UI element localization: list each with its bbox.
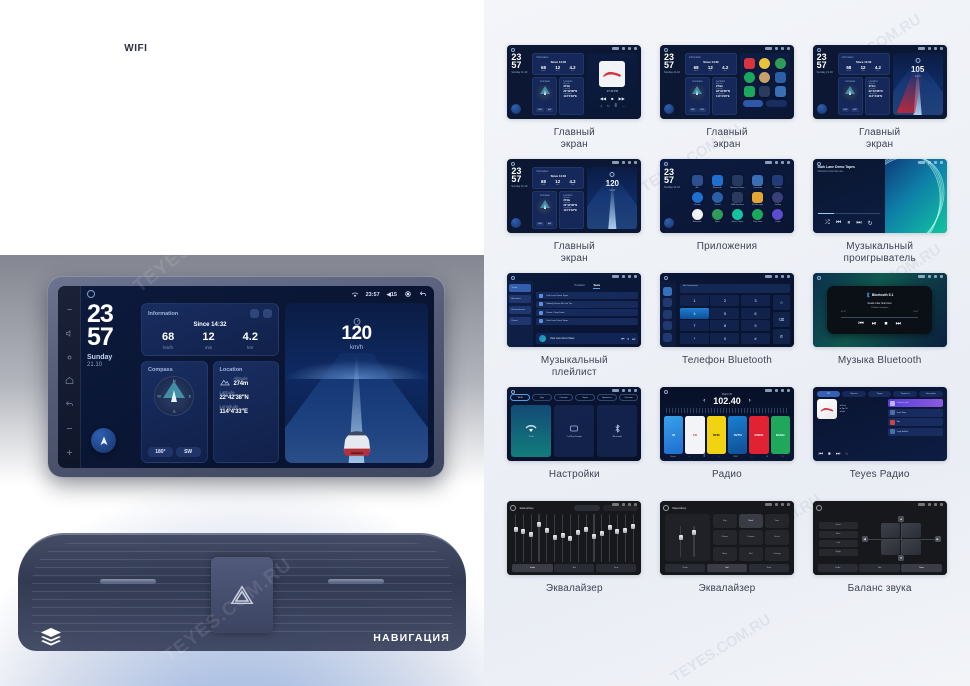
next-icon[interactable]: ⏭ xyxy=(632,337,635,341)
album-art xyxy=(599,61,625,87)
key[interactable]: * xyxy=(680,333,709,344)
band-slider[interactable] xyxy=(606,514,612,562)
thumbnail-teyes-radio[interactable]: ТВ Музыка Радио Подкасты Настройки xyxy=(813,387,947,461)
app-item[interactable]: Maps xyxy=(708,209,726,223)
settings-card[interactable]: CarPlay Dongle xyxy=(554,405,594,457)
app-grid[interactable]: AVI Bluetooth Bluetooth Music Calculator… xyxy=(685,168,790,229)
settings-tabs[interactable]: Wi-Fi Звук Система Экран Громкость Систе… xyxy=(507,394,641,401)
list-icon[interactable]: ≣ xyxy=(615,104,618,108)
next-icon[interactable]: ⏭ xyxy=(836,451,841,457)
preset[interactable]: ECHO xyxy=(771,416,790,454)
app-label: Music Player xyxy=(732,221,743,223)
compass-card[interactable]: Compass N S W E xyxy=(141,361,208,463)
thumbnail-caption: Главный экран xyxy=(859,127,900,151)
list-icon[interactable]: ≣ xyxy=(703,456,705,458)
gallery-item[interactable]: 23 57 Sunday 21.10 Information Since 14:… xyxy=(655,45,800,151)
tab[interactable]: Система xyxy=(554,394,574,401)
gallery-item[interactable]: 23 57 Sunday 21.10 AVI Bluetooth Bluetoo… xyxy=(655,159,800,265)
preset-pill[interactable] xyxy=(574,505,600,511)
power-icon[interactable]: ⏻ xyxy=(782,456,784,458)
footer-button[interactable]: Bal xyxy=(554,564,594,572)
location-title: Location xyxy=(220,367,273,373)
clock-minutes: 57 xyxy=(664,176,682,184)
tab[interactable]: Радио xyxy=(868,391,892,397)
settings-card[interactable]: Wi-Fi xyxy=(511,405,551,457)
gallery-item[interactable]: Эквалайзер xyxy=(502,501,647,607)
star-icon[interactable]: ☆ xyxy=(773,295,790,310)
footer-button[interactable]: Bal xyxy=(859,564,899,572)
gallery-item[interactable]: 23 57 Sunday 21.10 Information Since 14:… xyxy=(502,159,647,265)
compass-heading: 180° xyxy=(689,108,697,112)
app-item[interactable]: DAB Equalizer xyxy=(728,192,746,206)
tab[interactable]: Музыка xyxy=(842,391,866,397)
thumbnail-playlist[interactable]: Треки Альбомы Исполнители Папки Плейлист… xyxy=(507,273,641,347)
seek-bar[interactable] xyxy=(841,317,918,318)
now-playing-bar[interactable]: Dark Lane Demo Tapes ⏮ ⏸ ⏭ xyxy=(536,333,638,344)
pause-icon[interactable]: ⏸ xyxy=(847,220,850,227)
balance-pad[interactable]: ▲ ▼ ◀ ▶ xyxy=(862,516,941,561)
app-item[interactable]: FileManager xyxy=(749,192,767,206)
band-slider[interactable] xyxy=(552,514,558,562)
thumbnail-bt-music[interactable]: Bluetooth 5.1 Feels Like Summer Childish… xyxy=(813,273,947,347)
tab[interactable]: Подкасты xyxy=(893,391,917,397)
player-controls[interactable]: ⤮ ⏮ ⏸ ⏭ ↻ xyxy=(818,220,880,227)
bluetooth-icon xyxy=(866,292,870,299)
track-name: Dark Lane Demo Tapes xyxy=(546,320,568,322)
band-slider[interactable] xyxy=(630,514,636,562)
key[interactable]: 0 xyxy=(710,333,739,344)
app-label: Play Store xyxy=(753,221,762,223)
back-icon[interactable] xyxy=(816,505,822,511)
thumbnail-home-apps[interactable]: 23 57 Sunday 21.10 Information Since 14:… xyxy=(660,45,794,119)
shuffle-icon[interactable]: ⤮ xyxy=(825,220,830,227)
fader[interactable] xyxy=(693,526,694,557)
equalizer-icon[interactable]: ⎍ xyxy=(719,456,720,458)
bt-music-screen: Bluetooth 5.1 Feels Like Summer Childish… xyxy=(813,273,947,347)
navigation-arrow-icon[interactable] xyxy=(511,218,521,228)
location-card[interactable]: Location Altitude 274m xyxy=(213,361,280,463)
prev-icon[interactable]: ◀◀ xyxy=(600,96,606,101)
key[interactable]: 5 xyxy=(710,308,739,319)
footer-button[interactable]: Fade xyxy=(512,564,552,572)
tab[interactable]: Wi-Fi xyxy=(510,394,530,401)
thumbnail-bt-phone[interactable]: Not Connected 1 2 3 4 5 6 xyxy=(660,273,794,347)
stop-icon[interactable]: ■ xyxy=(611,96,613,101)
gallery-item[interactable]: 23 57 Sunday 21.10 Information Since 14:… xyxy=(807,45,952,151)
back-icon[interactable] xyxy=(663,505,669,511)
track-row[interactable]: Dark Lane Demo Tapes xyxy=(536,318,638,325)
footer-button[interactable]: Tone xyxy=(901,564,941,572)
settings-cards[interactable]: Wi-Fi CarPlay Dongle Bluetooth xyxy=(511,405,637,457)
previous-icon[interactable]: ⏮ xyxy=(858,321,863,328)
footer-button[interactable]: Tone xyxy=(596,564,636,572)
gallery-item[interactable]: Эквалайзер Pop Rock Jazz xyxy=(655,501,800,607)
next-icon[interactable]: ⏭ xyxy=(896,321,901,328)
stat-unit: km xyxy=(875,70,881,72)
key[interactable]: 2 xyxy=(710,295,739,306)
thumbnail-settings[interactable]: Wi-Fi Звук Система Экран Громкость Систе… xyxy=(507,387,641,461)
band-slider[interactable] xyxy=(575,514,581,562)
back-icon[interactable] xyxy=(664,218,674,228)
status-bar xyxy=(612,389,637,392)
shuffle-icon[interactable]: ⤮ xyxy=(600,104,602,108)
app-item[interactable]: Bluetooth xyxy=(708,175,726,189)
dial-pad[interactable]: 1 2 3 4 5 6 7 8 9 * xyxy=(680,295,770,344)
previous-icon[interactable]: ⏮ xyxy=(621,337,624,341)
tab[interactable]: Звук xyxy=(532,394,552,401)
compass-card: Compass 180°SW xyxy=(838,77,863,115)
repeat-icon[interactable]: ↻ xyxy=(868,220,873,227)
track-list[interactable]: Dark Lane Demo Tapes Nobody Knows Me Lik… xyxy=(536,292,638,331)
balance-screen: Front Rear Left Right xyxy=(813,501,947,575)
stop-icon[interactable]: ⏹ xyxy=(885,321,888,328)
app-item[interactable]: Chrome xyxy=(688,192,706,206)
app-item[interactable]: Calculator xyxy=(749,175,767,189)
status-bar xyxy=(918,275,943,278)
band-slider[interactable] xyxy=(599,514,605,562)
location-card: Location Altitude 274m Latitude 22°42'38… xyxy=(559,191,584,229)
side-button-strip[interactable] xyxy=(58,286,81,468)
caption-line-1: Главный xyxy=(554,241,595,253)
key[interactable]: 1 xyxy=(680,295,709,306)
compass-title: Compass xyxy=(540,194,550,197)
star-icon[interactable]: ☆ xyxy=(751,456,753,458)
information-title: Information xyxy=(148,311,178,317)
band-slider[interactable] xyxy=(583,514,589,562)
speed-road-widget[interactable]: 120 km/h xyxy=(285,303,428,463)
sidebar-item[interactable]: Папки xyxy=(509,317,531,325)
navigation-arrow-icon[interactable] xyxy=(91,428,116,453)
band-slider[interactable] xyxy=(528,514,534,562)
playlist-sidebar[interactable]: Треки Альбомы Исполнители Папки xyxy=(507,281,533,347)
station-name: Long Ballads xyxy=(897,431,909,433)
app-item[interactable]: Play Store xyxy=(749,209,767,223)
home-indicator-icon xyxy=(664,276,668,280)
clock-date: Sunday 21.10 xyxy=(664,186,682,189)
app-item[interactable]: Bluetooth Music xyxy=(728,175,746,189)
caption-line-2: плейлист xyxy=(541,367,608,379)
backspace-icon[interactable]: ⌫ xyxy=(773,312,790,327)
footer-button[interactable]: Fade xyxy=(818,564,858,572)
compass-e: E xyxy=(189,394,192,399)
expand-icon[interactable] xyxy=(263,309,272,318)
band-slider[interactable] xyxy=(591,514,597,562)
preset[interactable]: ROCK xyxy=(749,416,768,454)
vent-control-right[interactable] xyxy=(328,579,384,584)
gallery-item[interactable]: ТВ Музыка Радио Подкасты Настройки xyxy=(807,387,952,493)
app-label: AVI xyxy=(696,187,699,189)
since-label: Since 14:32 xyxy=(536,174,580,178)
app-item[interactable]: Control xyxy=(708,192,726,206)
tab[interactable]: Настройки xyxy=(919,391,943,397)
key[interactable]: 9 xyxy=(741,320,770,331)
progress-bar[interactable] xyxy=(818,213,880,214)
home-indicator-icon xyxy=(511,48,515,52)
caption-line-1: Приложения xyxy=(697,241,758,253)
road-visual xyxy=(587,183,637,229)
preset[interactable]: M xyxy=(664,416,683,454)
thumbnail-caption: Эквалайзер xyxy=(546,583,603,607)
preset-button[interactable]: Classic xyxy=(713,530,737,544)
gallery-item[interactable]: Dark Lane Demo Tapes Nobody Knows Me Lik… xyxy=(807,159,952,265)
footer-button[interactable]: Tone xyxy=(749,564,789,572)
refresh-icon[interactable] xyxy=(250,309,259,318)
band-slider[interactable] xyxy=(614,514,620,562)
volume-up-icon[interactable] xyxy=(65,444,74,453)
stat-unit: km xyxy=(722,70,728,72)
contacts-icon[interactable] xyxy=(663,298,672,307)
media-extra-controls[interactable]: ⤮ ↻ ≣ ⋯ xyxy=(600,104,625,108)
compass-direction: SW xyxy=(546,222,554,226)
mute-icon[interactable] xyxy=(65,325,74,334)
app-item[interactable]: Camera xyxy=(769,175,787,189)
key[interactable]: 6 xyxy=(741,308,770,319)
band-icon[interactable]: Band xyxy=(671,456,676,458)
power-icon[interactable] xyxy=(65,301,74,310)
tab[interactable]: Система xyxy=(619,394,639,401)
gallery-item[interactable]: Bluetooth 5.1 Feels Like Summer Childish… xyxy=(807,273,952,379)
thumbnail-home-media[interactable]: 23 57 Sunday 21.10 Information Since 14:… xyxy=(507,45,641,119)
fader-group[interactable] xyxy=(665,514,710,561)
arrow-right-icon[interactable]: ▶ xyxy=(935,536,941,542)
arrow-down-icon[interactable]: ▼ xyxy=(898,555,904,561)
settings-card-label: CarPlay Dongle xyxy=(567,436,582,438)
vent-control-left[interactable] xyxy=(100,579,156,584)
app-item[interactable]: Radio xyxy=(769,209,787,223)
playlist-tabs[interactable]: Плейлист Треки xyxy=(536,284,638,289)
home-indicator-icon xyxy=(664,390,668,394)
back-icon[interactable] xyxy=(65,396,74,405)
preset[interactable]: DFM xyxy=(707,416,726,454)
key[interactable]: 4 xyxy=(680,308,709,319)
preset-grid[interactable]: Pop Rock Jazz Classic Custom Vocal Bass … xyxy=(713,514,789,561)
clock-date: Sunday 21.10 xyxy=(511,71,529,74)
meta-line: ● Top 10 xyxy=(840,408,885,410)
gallery-item[interactable]: 23 57 Sunday 21.10 Information Since 14:… xyxy=(502,45,647,151)
volume-down-icon[interactable] xyxy=(65,420,74,429)
search-icon[interactable] xyxy=(663,310,672,319)
keypad-icon[interactable] xyxy=(663,287,672,296)
equalizer-footer[interactable]: Fade Bal Tone xyxy=(663,564,791,575)
thumbnail-apps[interactable]: 23 57 Sunday 21.10 AVI Bluetooth Bluetoo… xyxy=(660,159,794,233)
app-label: Camera xyxy=(774,187,781,189)
previous-icon[interactable]: ⏮ xyxy=(836,220,841,227)
station-row[interactable]: Love Story xyxy=(888,409,943,417)
search-icon[interactable]: ⌕ xyxy=(689,456,690,458)
repeat-icon[interactable]: ↻ xyxy=(607,104,610,108)
next-icon[interactable]: ⏭ xyxy=(856,220,861,227)
layers-icon[interactable] xyxy=(40,627,62,652)
band-slider[interactable] xyxy=(622,514,628,562)
footer-button[interactable]: Fade xyxy=(665,564,705,572)
thumbnail-home-road-105[interactable]: 23 57 Sunday 21.10 Information Since 14:… xyxy=(813,45,947,119)
next-station-icon[interactable]: › xyxy=(749,398,751,404)
speedometer-icon xyxy=(915,58,920,63)
sidebar-item[interactable]: Исполнители xyxy=(509,306,531,314)
preset-list[interactable]: M CD DFM AVTO ROCK ECHO xyxy=(664,416,790,454)
gear-icon[interactable] xyxy=(404,290,412,300)
app-label: Chrome xyxy=(694,204,701,206)
location-card: Location Altitude 274m Latitude 22°42'38… xyxy=(559,77,584,115)
balance-footer[interactable]: Fade Bal Tone xyxy=(816,564,944,575)
preset[interactable]: AVTO xyxy=(728,416,747,454)
sidebar-item[interactable]: Треки xyxy=(509,284,531,292)
wifi-icon xyxy=(351,291,359,300)
more-icon[interactable]: ⋯ xyxy=(622,104,625,108)
app-label: Bluetooth xyxy=(713,187,721,189)
gallery-item[interactable]: Radio FM ‹ 102.40 › M CD DFM xyxy=(655,387,800,493)
call-icon[interactable]: ✆ xyxy=(773,329,790,344)
phone-number-field[interactable]: Not Connected xyxy=(680,284,790,293)
tab-tracks[interactable]: Треки xyxy=(593,284,600,289)
teyes-tabs[interactable]: ТВ Музыка Радио Подкасты Настройки xyxy=(817,391,943,397)
stat-item: 12 min xyxy=(202,332,214,350)
speedometer-icon xyxy=(610,172,615,177)
thumbnail-equalizer-2[interactable]: Эквалайзер Pop Rock Jazz xyxy=(660,501,794,575)
navigation-arrow-icon[interactable] xyxy=(511,104,521,114)
playback-controls[interactable]: ⏮ ⏸ ⏭ xyxy=(621,337,635,341)
gallery-item[interactable]: Not Connected 1 2 3 4 5 6 xyxy=(655,273,800,379)
pause-icon[interactable]: ⏸ xyxy=(627,337,629,341)
preset-button[interactable]: Pop xyxy=(713,514,737,528)
prev-station-icon[interactable]: ‹ xyxy=(703,398,705,404)
band-slider[interactable] xyxy=(512,514,518,562)
head-unit-screen[interactable]: 23:57 ◀15 23 57 xyxy=(58,286,434,468)
information-card[interactable]: Information Since 14:32 xyxy=(141,303,279,356)
tuning-scale[interactable] xyxy=(666,408,788,413)
equalizer-footer[interactable]: Fade Bal Tone xyxy=(510,564,638,575)
radio-toolbar[interactable]: Band ⌕ ≣ ⎍ RDS ☆ ⚙ ⏻ xyxy=(664,456,790,458)
arrow-left-icon[interactable]: ◀ xyxy=(862,536,868,542)
app-shortcuts-widget[interactable] xyxy=(740,53,790,115)
app-item[interactable]: Music Player xyxy=(728,209,746,223)
preset-button[interactable]: Flat xyxy=(739,547,763,561)
navigation-arrow-icon[interactable] xyxy=(664,104,674,114)
caption-line-1: Эквалайзер xyxy=(699,583,756,595)
play-pause-icon[interactable]: ⏯ xyxy=(872,321,877,328)
station-row[interactable]: Long Ballads xyxy=(888,428,943,436)
app-item[interactable]: Kinopoisk xyxy=(688,209,706,223)
stat-unit: km xyxy=(570,184,576,186)
app-item[interactable]: Gallery xyxy=(769,192,787,206)
meta-line: ● Rock xyxy=(840,405,885,407)
balance-button[interactable]: Right xyxy=(819,549,858,556)
media-time: 07:30 PM xyxy=(607,90,618,93)
footer-button[interactable]: Bal xyxy=(707,564,747,572)
heart-icon[interactable]: ♡ xyxy=(845,452,848,456)
key[interactable]: 8 xyxy=(710,320,739,331)
clock-date: 21.10 xyxy=(87,362,135,368)
station-row[interactable]: Favorite track xyxy=(888,399,943,407)
balance-button[interactable]: Front xyxy=(819,522,858,529)
gallery-item[interactable]: Front Rear Left Right xyxy=(807,501,952,607)
track-row[interactable]: Dark Lane Demo Tapes xyxy=(536,292,638,299)
sidebar-item[interactable]: Альбомы xyxy=(509,295,531,303)
clock-minutes: 57 xyxy=(817,61,835,69)
balance-button[interactable]: Rear xyxy=(819,531,858,538)
key[interactable]: 3 xyxy=(741,295,770,306)
preset-button[interactable]: Custom xyxy=(739,530,763,544)
settings-icon[interactable] xyxy=(663,333,672,342)
tab[interactable]: ТВ xyxy=(817,391,841,397)
speed-road-widget: 120 km/h xyxy=(587,167,637,229)
preset-button[interactable]: Jazz xyxy=(765,514,789,528)
band-slider[interactable] xyxy=(536,514,542,562)
playback-controls[interactable]: ⏮ ⏯ ⏹ ⏭ xyxy=(858,321,901,328)
band-slider[interactable] xyxy=(567,514,573,562)
status-bar xyxy=(612,161,637,164)
gear-icon[interactable]: ⚙ xyxy=(766,456,768,458)
settings-card[interactable]: Bluetooth xyxy=(597,405,637,457)
thumbnail-balance[interactable]: Front Rear Left Right xyxy=(813,501,947,575)
track-row[interactable]: Desire - Drop Dead xyxy=(536,309,638,316)
app-item[interactable]: AVI xyxy=(688,175,706,189)
tab[interactable]: Громкость xyxy=(597,394,617,401)
thumbnail-music-player[interactable]: Dark Lane Demo Tapes Nobody Knows Me Lik… xyxy=(813,159,947,233)
compass-direction: SW xyxy=(698,108,706,112)
navigation-label: НАВИГАЦИЯ xyxy=(373,632,450,644)
media-controls[interactable]: ◀◀ ■ ▶▶ xyxy=(600,96,625,101)
band-slider[interactable] xyxy=(520,514,526,562)
station-list[interactable]: Favorite track Love Story Hits Long Ball… xyxy=(888,399,943,457)
gallery-item[interactable]: Треки Альбомы Исполнители Папки Плейлист… xyxy=(502,273,647,379)
band-slider[interactable] xyxy=(559,514,565,562)
navigation-arrow-icon[interactable] xyxy=(817,104,827,114)
next-icon[interactable]: ▶▶ xyxy=(619,96,625,101)
gallery-item[interactable]: Wi-Fi Звук Система Экран Громкость Систе… xyxy=(502,387,647,493)
thumbnail-radio[interactable]: Radio FM ‹ 102.40 › M CD DFM xyxy=(660,387,794,461)
status-bar xyxy=(612,275,637,278)
station-name: Hits xyxy=(897,421,900,423)
call-history-icon[interactable] xyxy=(663,321,672,330)
back-icon[interactable] xyxy=(510,505,516,511)
product-logo: CC3L WIFI xyxy=(42,35,154,60)
clock-widget: 23 57 Sunday 21.10 xyxy=(664,168,682,229)
fader[interactable] xyxy=(680,526,681,557)
presentation-slide: TEYES.COM.RU TEYES.COM.RU TEYES.COM.RU C… xyxy=(0,0,970,686)
track-row[interactable]: Nobody Knows Me Like You xyxy=(536,301,638,308)
stop-icon[interactable]: ⏹ xyxy=(828,451,831,457)
key[interactable]: 7 xyxy=(680,320,709,331)
band-sliders[interactable] xyxy=(510,514,638,564)
key[interactable]: # xyxy=(741,333,770,344)
previous-icon[interactable]: ⏮ xyxy=(819,451,824,457)
playback-controls[interactable]: ⏮ ⏹ ⏭ ♡ xyxy=(817,451,885,457)
preset-button[interactable]: Bass xyxy=(713,547,737,561)
preset[interactable]: CD xyxy=(685,416,704,454)
tab-playlist[interactable]: Плейлист xyxy=(575,284,586,289)
home-icon[interactable] xyxy=(65,372,74,381)
band-slider[interactable] xyxy=(544,514,550,562)
preset-button[interactable]: Rock xyxy=(739,514,763,528)
home-indicator-icon[interactable] xyxy=(87,290,95,298)
balance-button[interactable]: Left xyxy=(819,540,858,547)
preset-button[interactable]: Vocal xyxy=(765,530,789,544)
stat-value: 68 xyxy=(162,332,174,343)
dialer-sidebar[interactable] xyxy=(660,281,676,347)
back-icon[interactable] xyxy=(419,290,427,300)
compass-heading: 180° xyxy=(536,222,544,226)
rds-icon[interactable]: RDS xyxy=(733,456,737,458)
preset-button[interactable]: Country xyxy=(765,547,789,561)
balance-buttons[interactable]: Front Rear Left Right xyxy=(819,516,858,561)
thumbnail-home-road-120[interactable]: 23 57 Sunday 21.10 Information Since 14:… xyxy=(507,159,641,233)
arrow-up-icon[interactable]: ▲ xyxy=(898,516,904,522)
thumbnail-equalizer-1[interactable]: Эквалайзер xyxy=(507,501,641,575)
tab[interactable]: Экран xyxy=(575,394,595,401)
station-row[interactable]: Hits xyxy=(888,418,943,426)
gear-icon[interactable] xyxy=(65,349,74,358)
